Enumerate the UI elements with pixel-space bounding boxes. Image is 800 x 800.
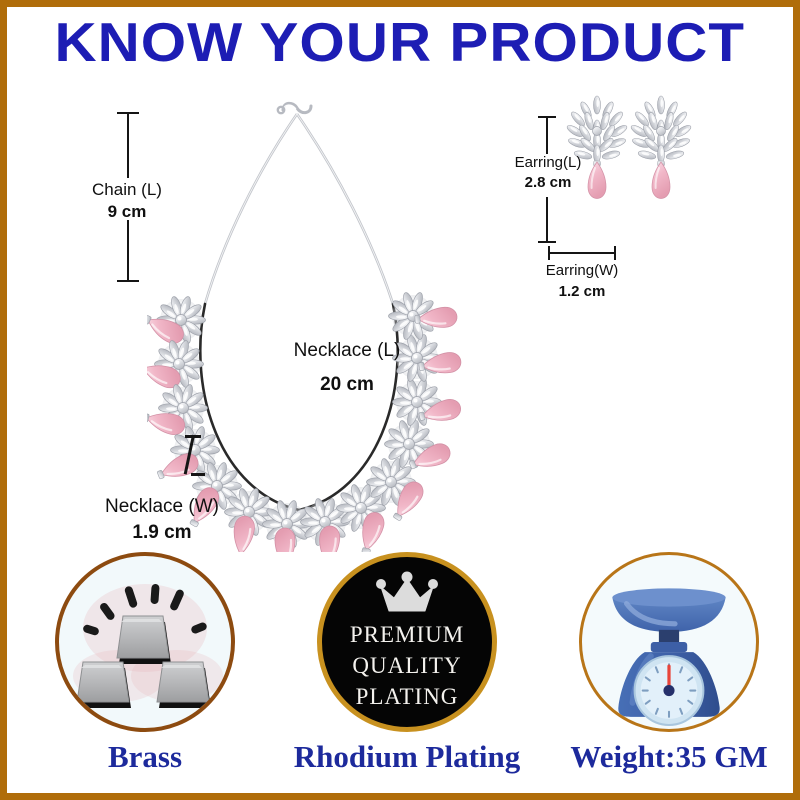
necklace-width-label: Necklace (W) 1.9 cm xyxy=(62,494,262,546)
page-title-text: KNOW YOUR PRODUCT xyxy=(55,11,746,73)
badge-rhodium-plating: PREMIUM QUALITY PLATING Rhodium Plating xyxy=(287,552,527,776)
product-infographic: KNOW YOUR PRODUCT Chain (L) 9 cm xyxy=(0,0,800,800)
necklace-width-value: 1.9 cm xyxy=(62,520,262,546)
brass-badge-circle xyxy=(55,552,235,732)
necklace-length-name: Necklace (L) xyxy=(212,337,482,365)
earring-width-value: 1.2 cm xyxy=(517,281,647,302)
brass-badge-caption: Brass xyxy=(108,738,182,776)
earring-length-line-lower xyxy=(546,197,548,243)
page-title: KNOW YOUR PRODUCT xyxy=(7,11,793,73)
earring-width-cap-right xyxy=(614,246,616,260)
necklace-length-value: 20 cm xyxy=(212,365,482,405)
badge-brass: Brass xyxy=(25,552,265,776)
earring-width-name: Earring(W) xyxy=(517,260,647,281)
premium-line-2: QUALITY xyxy=(322,650,492,681)
earring-width-label: Earring(W) 1.2 cm xyxy=(517,260,647,302)
weight-badge-circle xyxy=(579,552,759,732)
badge-weight: Weight:35 GM xyxy=(549,552,789,776)
rhodium-badge-caption: Rhodium Plating xyxy=(294,738,521,776)
metal-ingots-icon xyxy=(59,556,231,728)
necklace-width-cap-bottom xyxy=(191,473,205,476)
earring-right xyxy=(630,96,693,199)
premium-line-1: PREMIUM xyxy=(322,619,492,650)
premium-line-3: PLATING xyxy=(322,681,492,712)
earring-length-name: Earring(L) xyxy=(483,153,613,173)
necklace-length-label: Necklace (L) 20 cm xyxy=(212,337,482,405)
necklace-chain xyxy=(205,103,393,304)
premium-badge-text: PREMIUM QUALITY PLATING xyxy=(322,619,492,712)
necklace-illustration xyxy=(147,92,527,552)
earring-length-cap-bottom xyxy=(538,241,556,243)
earring-width-line xyxy=(548,252,616,254)
chain-dim-line-lower xyxy=(127,220,129,282)
chain-dim-line-upper xyxy=(127,112,129,178)
crown-icon xyxy=(375,571,439,617)
premium-badge-circle: PREMIUM QUALITY PLATING xyxy=(317,552,497,732)
earring-length-value: 2.8 cm xyxy=(483,173,613,193)
weighing-scale-icon xyxy=(582,555,756,729)
earring-length-label: Earring(L) 2.8 cm xyxy=(483,153,613,193)
earring-length-line-upper xyxy=(546,116,548,154)
feature-badges: Brass PREMIUM QUALITY PLATING Rhodium Pl… xyxy=(14,552,800,792)
chain-dim-cap-bottom xyxy=(117,280,139,282)
necklace-width-name: Necklace (W) xyxy=(62,494,262,520)
weight-badge-caption: Weight:35 GM xyxy=(570,738,767,776)
